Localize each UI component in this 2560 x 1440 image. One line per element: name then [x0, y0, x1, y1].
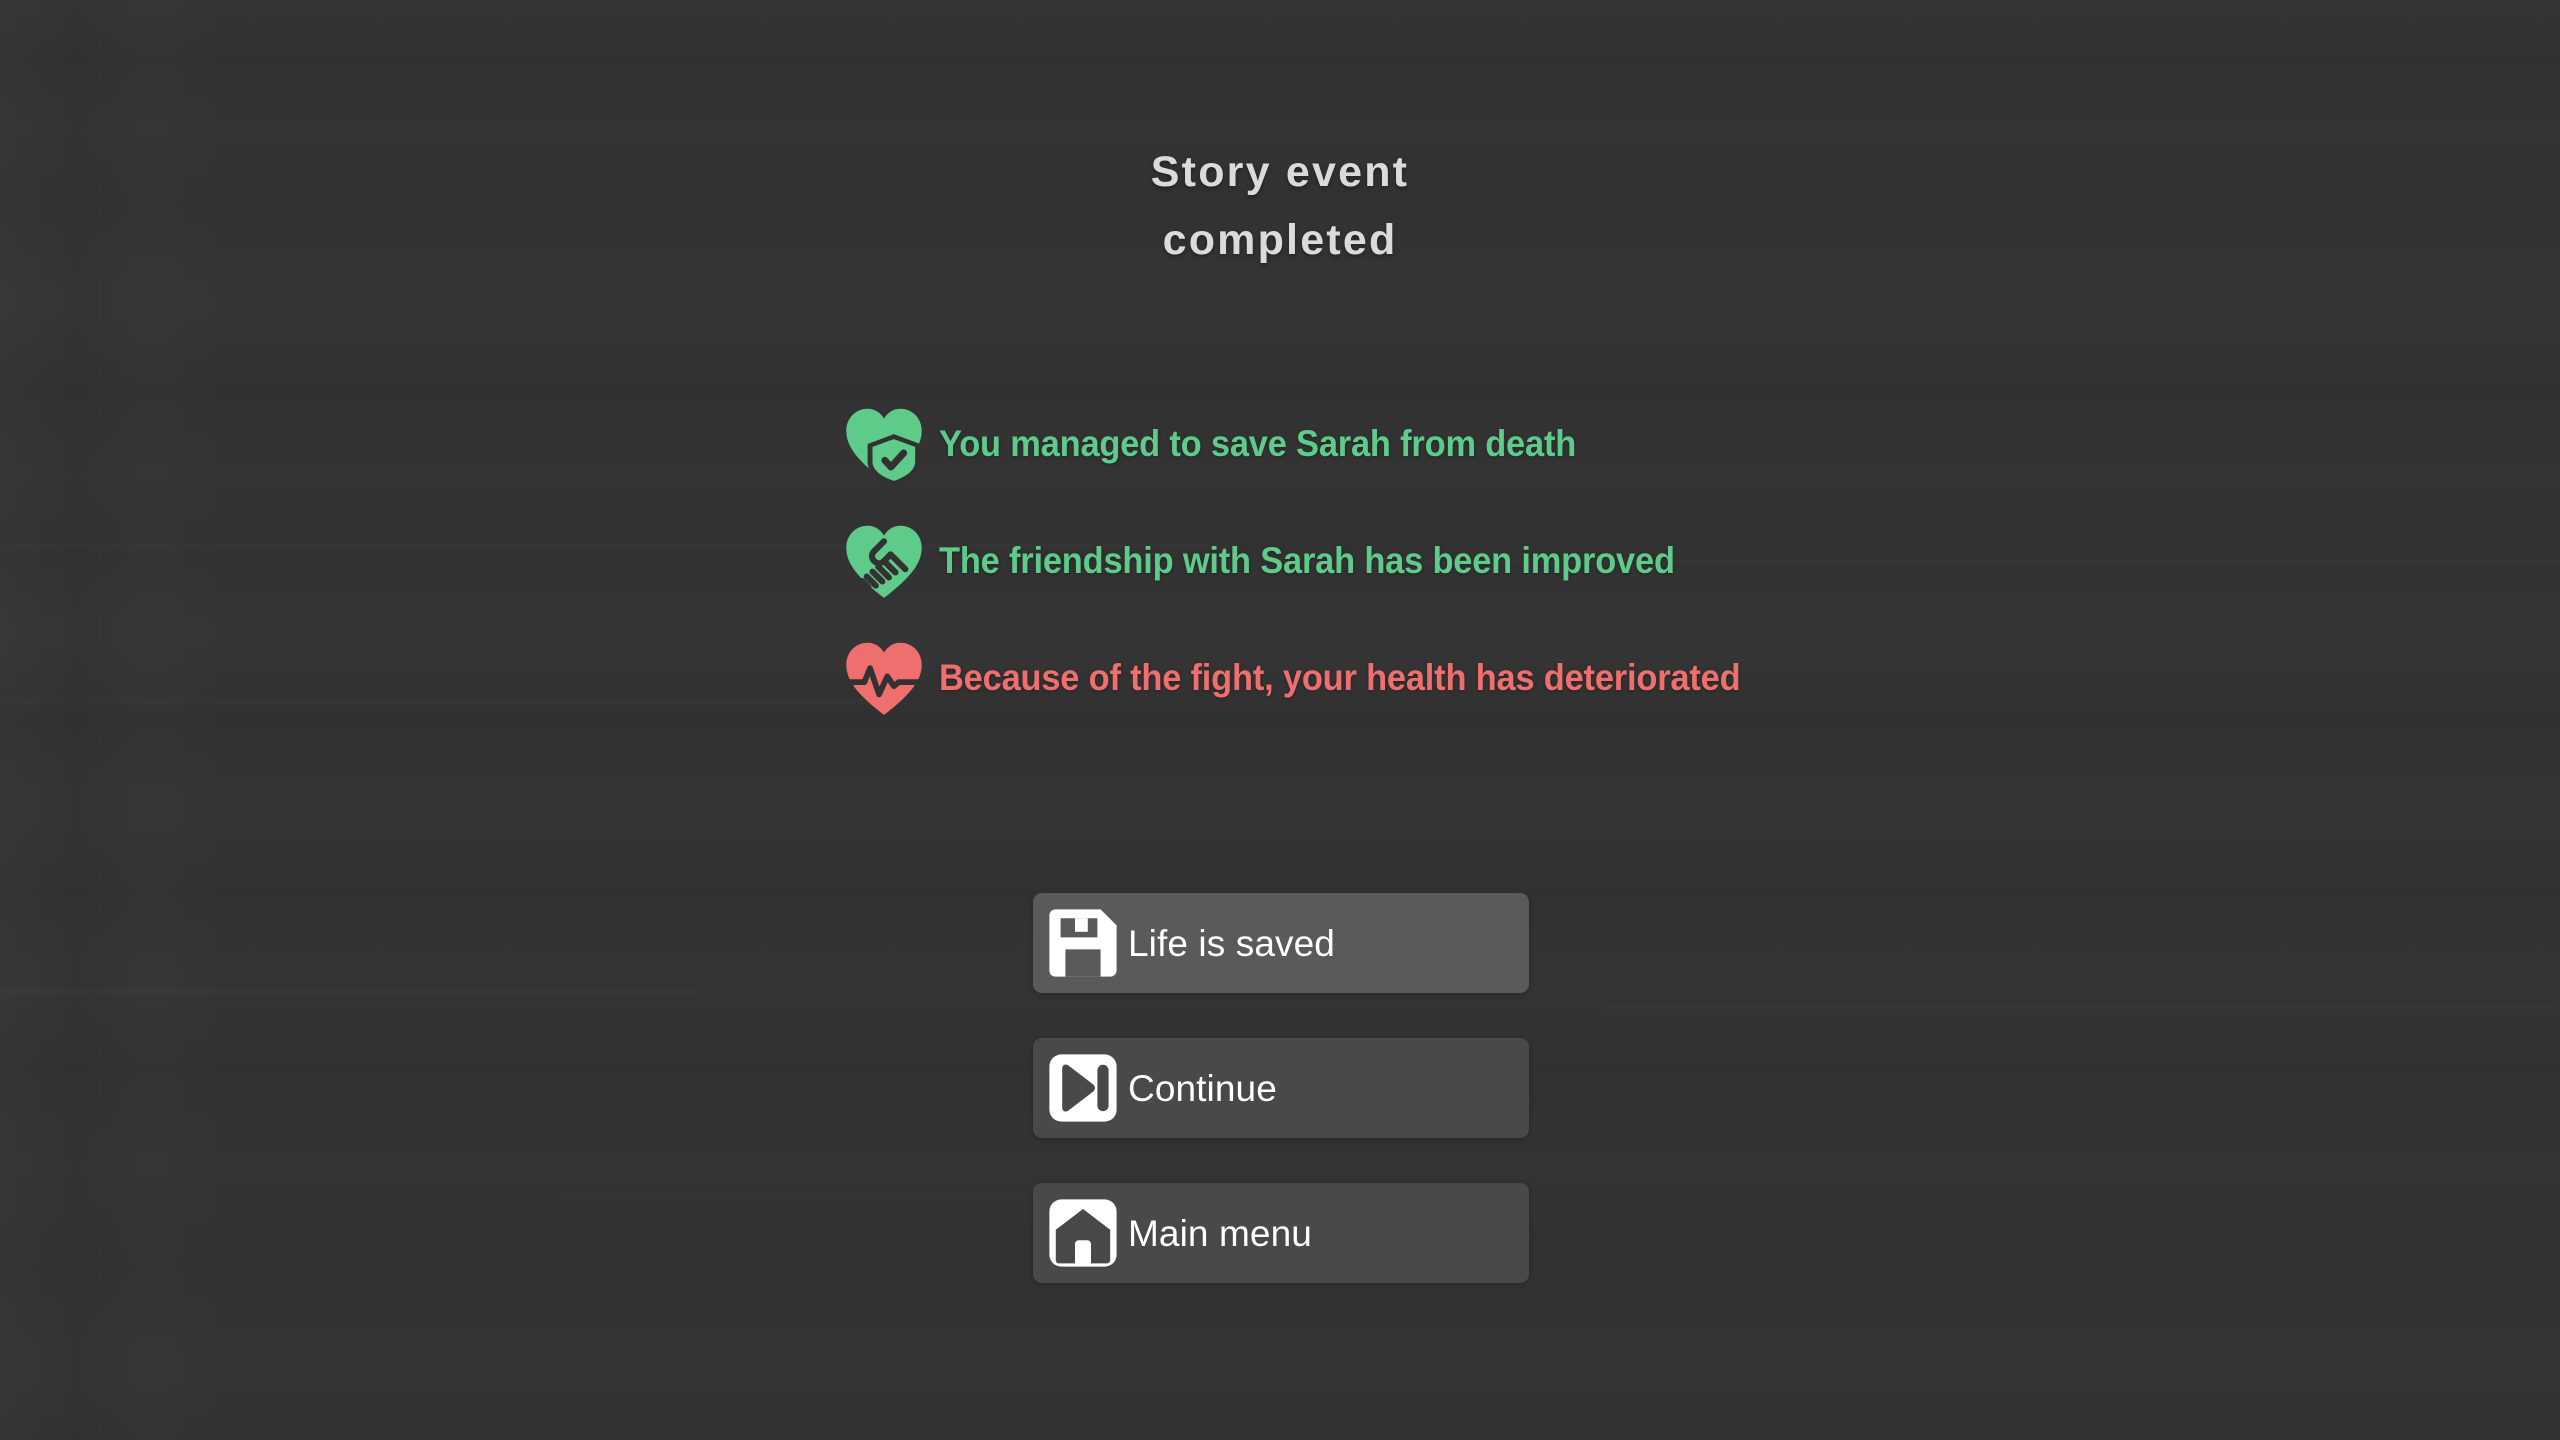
continue-button[interactable]: Continue [1033, 1038, 1529, 1138]
heart-pulse-icon [843, 637, 925, 719]
continue-button-label: Continue [1128, 1070, 1277, 1107]
outcome-list: You managed to save Sarah from death [0, 385, 2560, 736]
outcome-label: You managed to save Sarah from death [939, 423, 1576, 465]
story-event-screen: Story event completed You managed to sav… [0, 0, 2560, 1440]
outcome-label: Because of the fight, your health has de… [939, 657, 1740, 699]
heart-shield-check-icon [843, 403, 925, 485]
outcome-label: The friendship with Sarah has been impro… [939, 540, 1675, 582]
page-title-line-2: completed [0, 206, 2560, 274]
outcome-row: Because of the fight, your health has de… [0, 619, 2560, 736]
main-menu-button[interactable]: Main menu [1033, 1183, 1529, 1283]
skip-forward-icon [1043, 1048, 1123, 1128]
heart-handshake-icon [843, 520, 925, 602]
page-title: Story event completed [0, 138, 2560, 274]
outcome-row: You managed to save Sarah from death [0, 385, 2560, 502]
floppy-disk-save-icon [1043, 903, 1123, 983]
outcome-row: The friendship with Sarah has been impro… [0, 502, 2560, 619]
main-menu-button-label: Main menu [1128, 1215, 1312, 1252]
save-button-label: Life is saved [1128, 925, 1335, 962]
page-title-line-1: Story event [0, 138, 2560, 206]
home-icon [1043, 1193, 1123, 1273]
save-button[interactable]: Life is saved [1033, 893, 1529, 993]
action-button-stack: Life is saved Continue Main menu [1033, 893, 1529, 1283]
